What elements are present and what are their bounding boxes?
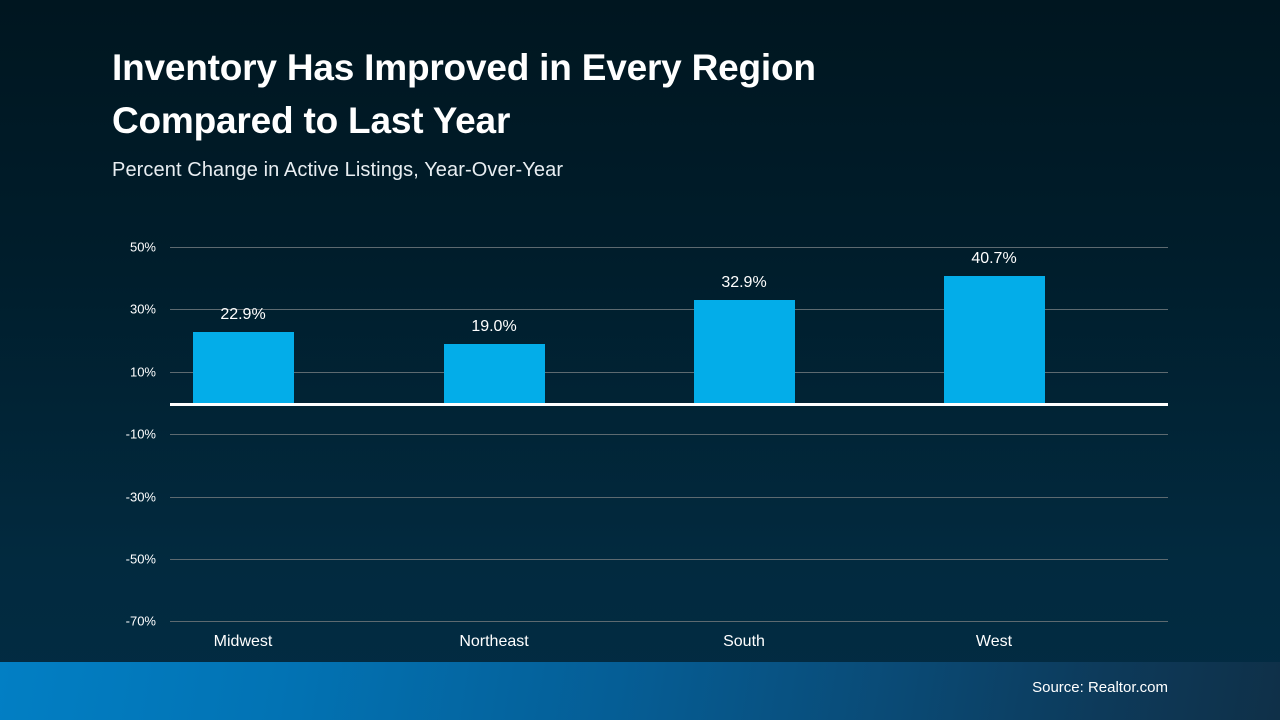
bar-value-label: 32.9% (721, 274, 766, 292)
gridline (170, 621, 1168, 622)
y-axis-tick-label: -70% (36, 614, 156, 629)
source-attribution: Source: Realtor.com (1032, 679, 1168, 696)
x-axis-tick-label: Northeast (459, 633, 528, 651)
zero-baseline (170, 403, 1168, 406)
bar-midwest[interactable] (193, 332, 294, 403)
bar-south[interactable] (694, 300, 795, 403)
bar-value-label: 40.7% (971, 250, 1016, 268)
slide-root: Inventory Has Improved in Every Region C… (0, 0, 1280, 720)
x-axis-tick-label: Midwest (214, 633, 273, 651)
y-axis-tick-label: 10% (36, 364, 156, 379)
y-axis-tick-label: -50% (36, 551, 156, 566)
gridline (170, 434, 1168, 435)
y-axis-tick-label: 30% (36, 302, 156, 317)
footer-bar: Source: Realtor.com (0, 662, 1280, 720)
gridline (170, 247, 1168, 248)
bar-west[interactable] (944, 276, 1045, 403)
bar-chart: 50%30%10%-10%-30%-50%-70% 22.9%19.0%32.9… (0, 0, 1280, 660)
x-axis-tick-label: West (976, 633, 1012, 651)
gridline (170, 497, 1168, 498)
bar-value-label: 22.9% (220, 306, 265, 324)
bar-value-label: 19.0% (471, 318, 516, 336)
gridline (170, 559, 1168, 560)
y-axis-tick-label: -30% (36, 489, 156, 504)
y-axis-tick-label: -10% (36, 427, 156, 442)
x-axis-tick-label: South (723, 633, 765, 651)
bar-northeast[interactable] (444, 344, 545, 403)
y-axis-tick-label: 50% (36, 240, 156, 255)
